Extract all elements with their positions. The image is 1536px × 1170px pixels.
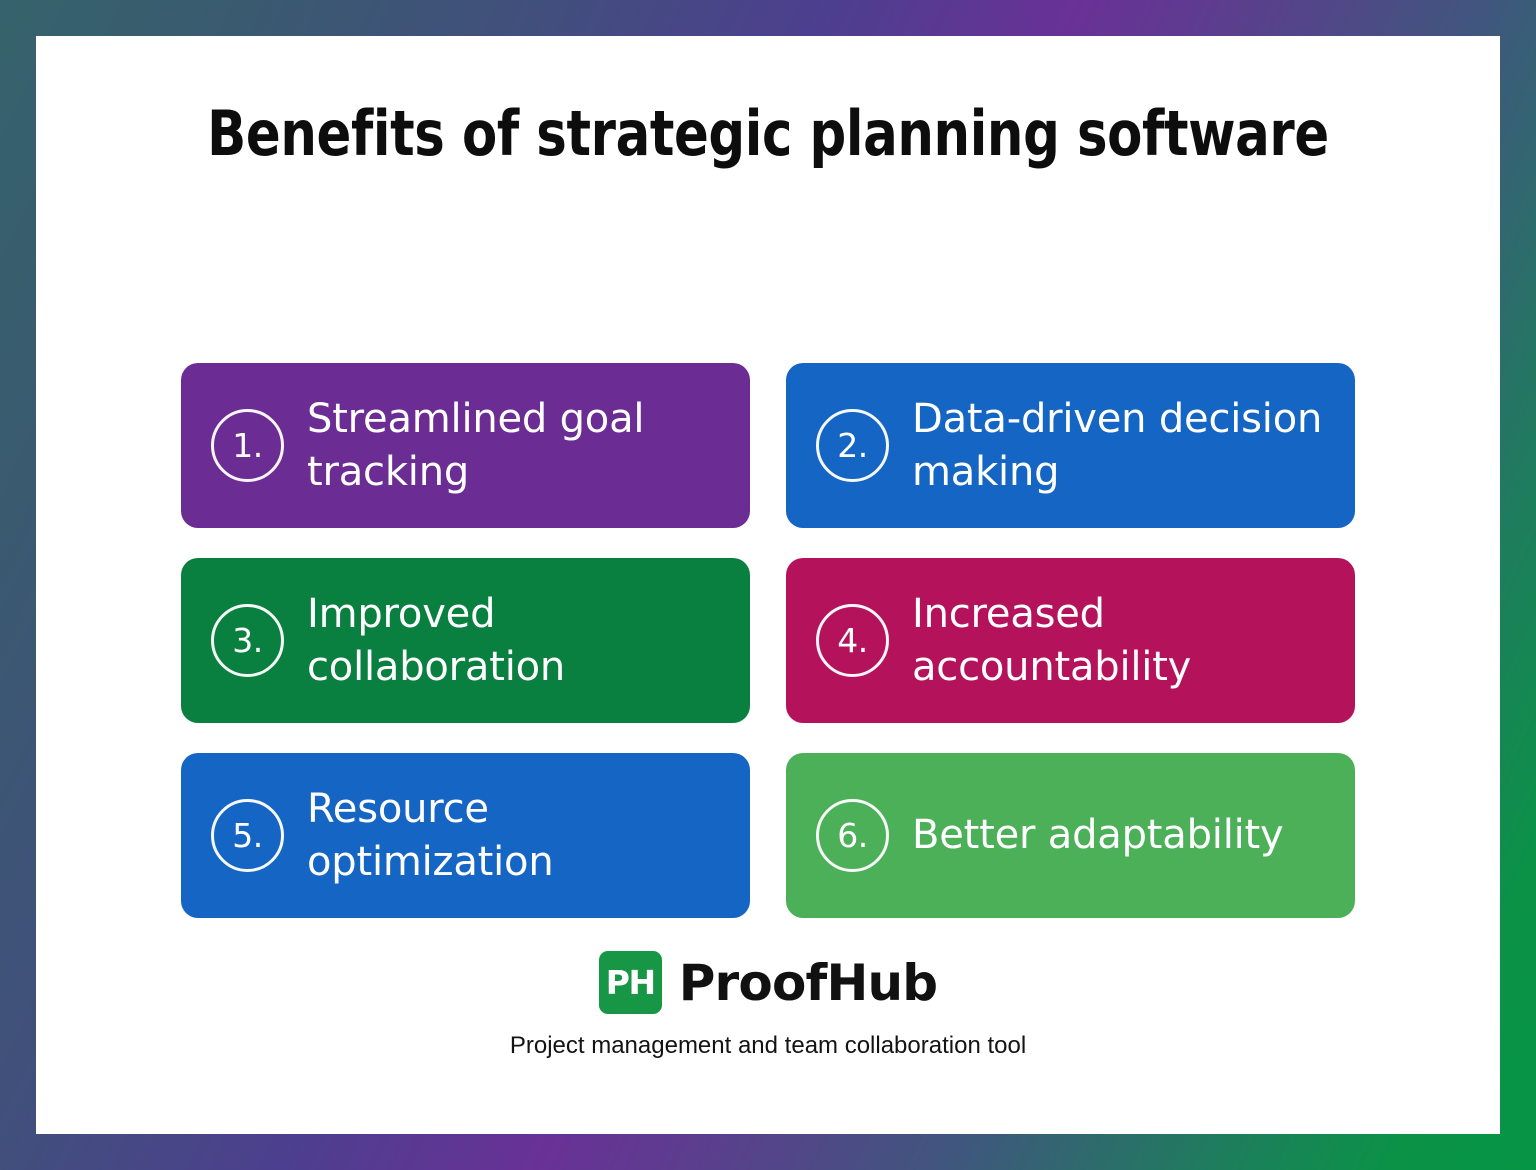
benefit-label-2: Data-driven decision making: [912, 393, 1337, 499]
benefit-label-3: Improved collaboration: [307, 588, 732, 694]
benefit-card-3[interactable]: 3. Improved collaboration: [181, 558, 750, 723]
infographic-canvas: Benefits of strategic planning software …: [36, 36, 1500, 1134]
page-title: Benefits of strategic planning software: [95, 98, 1442, 171]
benefit-card-1[interactable]: 1. Streamlined goal tracking: [181, 363, 750, 528]
benefit-label-4: Increased accountability: [912, 588, 1337, 694]
infographic-frame: Benefits of strategic planning software …: [0, 0, 1536, 1170]
benefit-number-badge-6: 6.: [816, 799, 889, 872]
benefit-card-5[interactable]: 5. Resource optimization: [181, 753, 750, 918]
benefit-card-6[interactable]: 6. Better adaptability: [786, 753, 1355, 918]
brand-lockup[interactable]: PH ProofHub: [599, 951, 938, 1014]
brand-name: ProofHub: [679, 954, 938, 1012]
proofhub-logo-icon: PH: [599, 951, 662, 1014]
benefit-label-1: Streamlined goal tracking: [307, 393, 732, 499]
benefit-number-badge-4: 4.: [816, 604, 889, 677]
brand-tagline: Project management and team collaboratio…: [36, 1032, 1500, 1060]
benefit-card-4[interactable]: 4. Increased accountability: [786, 558, 1355, 723]
benefit-number-badge-5: 5.: [211, 799, 284, 872]
benefit-label-5: Resource optimization: [307, 783, 732, 889]
proofhub-logo-monogram: PH: [606, 963, 655, 1002]
benefit-card-2[interactable]: 2. Data-driven decision making: [786, 363, 1355, 528]
brand-block: PH ProofHub Project management and team …: [36, 951, 1500, 1060]
benefit-number-badge-1: 1.: [211, 409, 284, 482]
benefit-number-badge-3: 3.: [211, 604, 284, 677]
benefit-number-badge-2: 2.: [816, 409, 889, 482]
benefit-label-6: Better adaptability: [912, 809, 1283, 862]
benefit-card-grid: 1. Streamlined goal tracking 2. Data-dri…: [181, 363, 1355, 918]
